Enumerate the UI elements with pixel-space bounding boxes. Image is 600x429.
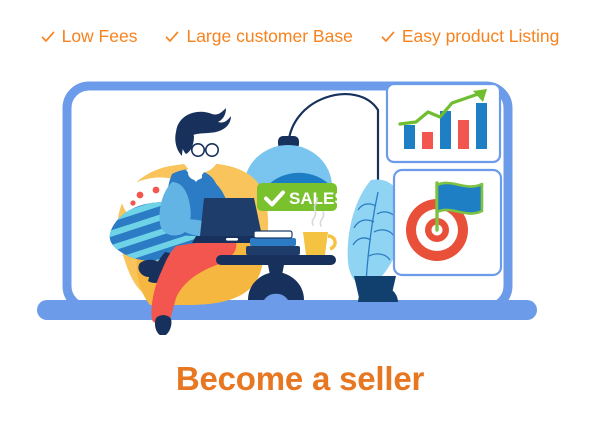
benefit-label: Low Fees — [62, 28, 138, 46]
laptop-base — [37, 300, 537, 320]
bar-1 — [404, 125, 415, 149]
bar-2 — [422, 132, 433, 149]
bar-4 — [458, 120, 469, 149]
plant-pot — [354, 276, 396, 302]
benefit-label: Large customer Base — [186, 28, 352, 46]
growth-chart-card — [387, 84, 500, 162]
check-icon — [165, 30, 179, 44]
target-flag-card — [394, 170, 501, 275]
benefit-item-large-customer-base: Large customer Base — [165, 28, 352, 46]
check-icon — [41, 30, 55, 44]
become-a-seller-illustration: SALES — [0, 70, 600, 335]
page-title: Become a seller — [0, 362, 600, 395]
benefit-item-easy-product-listing: Easy product Listing — [381, 28, 560, 46]
benefits-row: Low Fees Large customer Base Easy produc… — [0, 28, 600, 46]
benefit-label: Easy product Listing — [402, 28, 560, 46]
bar-5 — [476, 103, 487, 149]
sales-badge: SALES — [257, 183, 346, 211]
book-stack — [246, 231, 300, 255]
benefit-item-low-fees: Low Fees — [41, 28, 138, 46]
check-icon — [381, 30, 395, 44]
